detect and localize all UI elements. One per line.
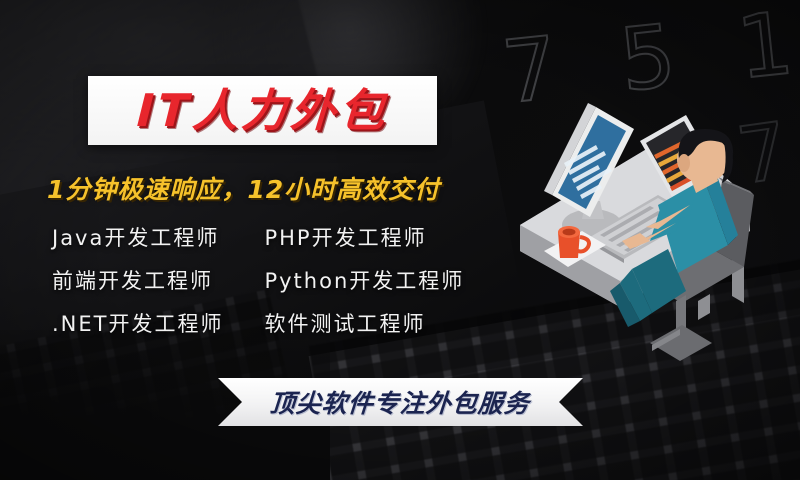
service-item-python: Python开发工程师 — [264, 265, 472, 295]
service-item-qa: 软件测试工程师 — [264, 308, 472, 338]
ribbon-slogan: 顶尖软件专注外包服务 — [269, 384, 532, 420]
service-row: 前端开发工程师 Python开发工程师 — [52, 265, 472, 308]
service-item-frontend: 前端开发工程师 — [52, 265, 264, 295]
service-row: Java开发工程师 PHP开发工程师 — [52, 222, 472, 265]
service-list: Java开发工程师 PHP开发工程师 前端开发工程师 Python开发工程师 .… — [52, 222, 472, 351]
page-title: IT人力外包 — [136, 88, 390, 133]
developer-illustration — [500, 55, 800, 365]
service-item-dotnet: .NET开发工程师 — [52, 308, 264, 338]
service-row: .NET开发工程师 软件测试工程师 — [52, 308, 472, 351]
service-item-php: PHP开发工程师 — [264, 222, 472, 252]
poster-canvas: 7 5 1 2 4 7 — [0, 0, 800, 480]
service-item-java: Java开发工程师 — [52, 222, 264, 252]
bottom-ribbon-banner: 顶尖软件专注外包服务 — [218, 378, 583, 426]
developer-illustration-svg — [500, 55, 800, 365]
subtitle-text: 1分钟极速响应，12小时高效交付 — [47, 170, 507, 206]
title-banner: IT人力外包 — [88, 76, 437, 145]
